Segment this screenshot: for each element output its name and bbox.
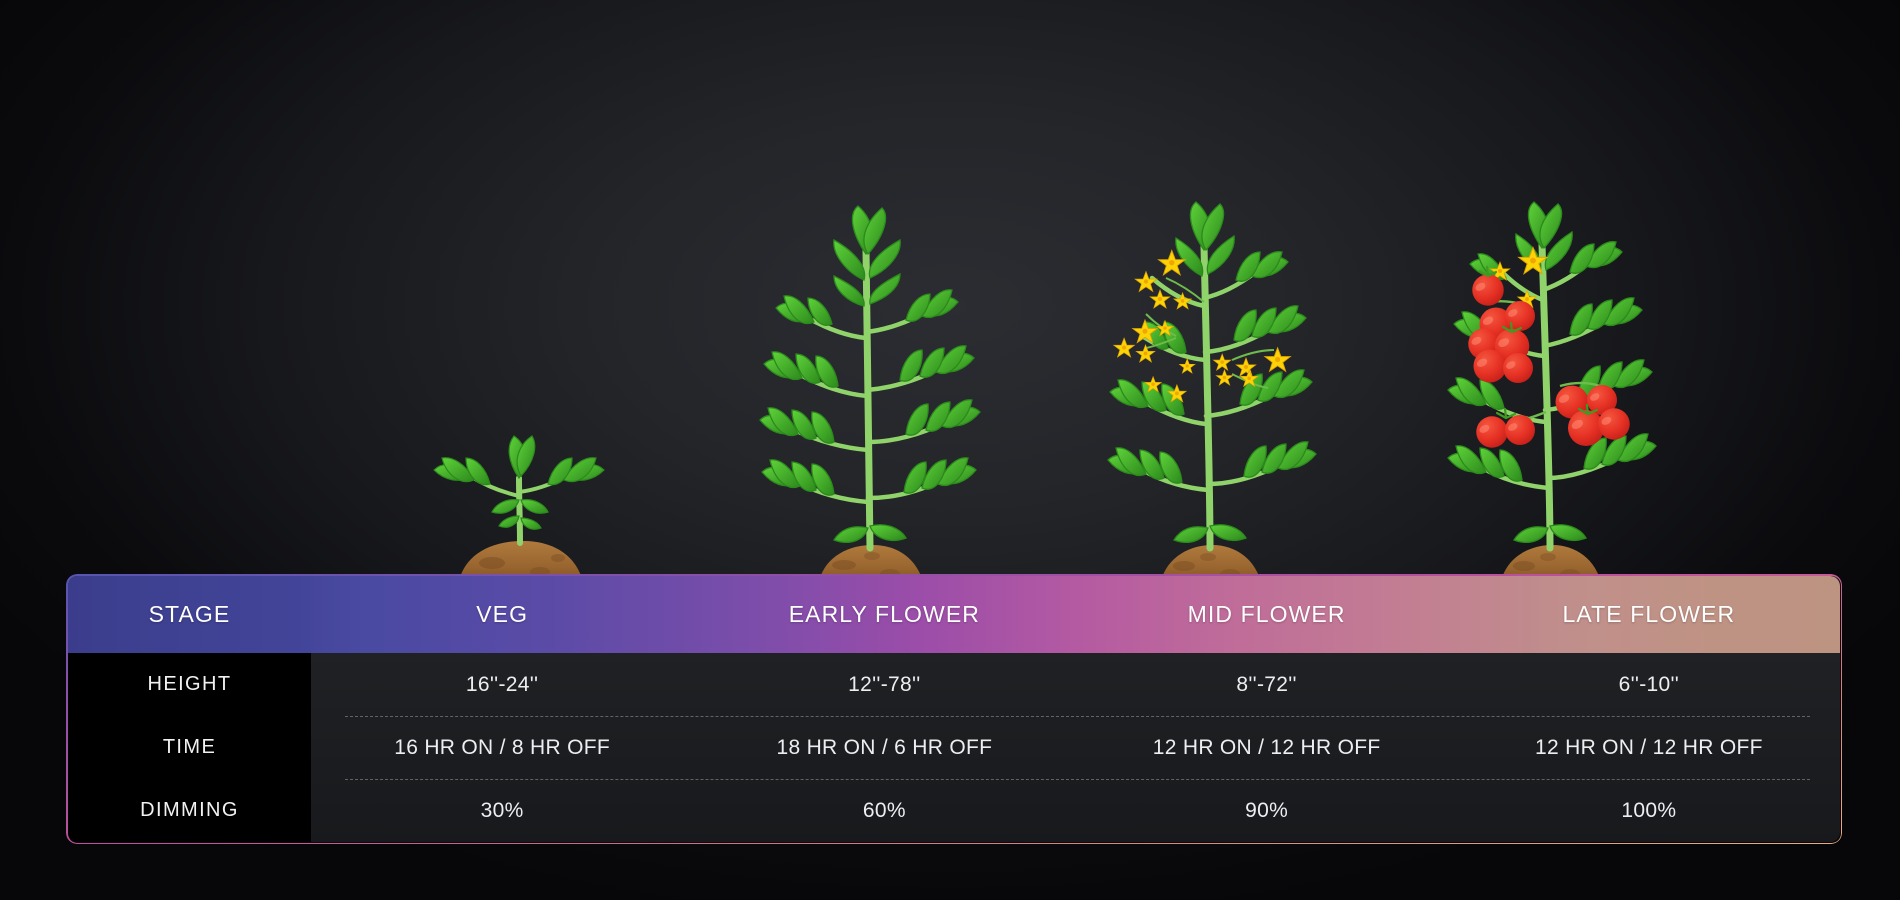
cell-height-early-flower: 12''-78''	[693, 653, 1075, 716]
cell-dimming-early-flower: 60%	[693, 779, 1075, 842]
row-label-time: TIME	[68, 716, 311, 779]
cell-time-late-flower: 12 HR ON / 12 HR OFF	[1458, 716, 1840, 779]
tomato-cluster-upper-left	[1472, 274, 1504, 306]
plant-mid-flower	[1080, 210, 1340, 600]
header-label-veg: VEG	[476, 601, 528, 628]
header-cell-mid-flower[interactable]: MID FLOWER	[1076, 576, 1458, 653]
table-row-dimming: 30% 60% 90% 100%	[311, 779, 1840, 842]
cell-height-late-flower-text: 6''-10''	[1619, 673, 1679, 697]
table-header-row: STAGE VEG EARLY FLOWER MID FLOWER LATE F…	[68, 576, 1840, 653]
plant-illustration-row	[0, 0, 1900, 600]
table-row-height: 16''-24'' 12''-78'' 8''-72'' 6''-10''	[311, 653, 1840, 716]
grow-schedule-table: STAGE VEG EARLY FLOWER MID FLOWER LATE F…	[68, 576, 1840, 842]
header-cell-late-flower[interactable]: LATE FLOWER	[1458, 576, 1840, 653]
row-label-column: HEIGHT TIME DIMMING	[68, 653, 311, 842]
tomato-cluster-lower-left	[1476, 415, 1535, 448]
plant-late-flower	[1420, 210, 1680, 600]
table-body: 16''-24'' 12''-78'' 8''-72'' 6''-10'' 16…	[311, 653, 1840, 842]
table-row-time: 16 HR ON / 8 HR OFF 18 HR ON / 6 HR OFF …	[311, 716, 1840, 779]
header-cell-stage: STAGE	[68, 576, 311, 653]
header-label-mid-flower: MID FLOWER	[1188, 601, 1346, 628]
tomato-cluster-mid-left	[1468, 301, 1535, 383]
tomato-plant-fruiting-icon	[1420, 210, 1680, 600]
row-label-height: HEIGHT	[68, 653, 311, 716]
tomato-seedling-icon	[400, 400, 640, 600]
cell-dimming-late-flower: 100%	[1458, 779, 1840, 842]
grow-stage-chart: STAGE VEG EARLY FLOWER MID FLOWER LATE F…	[0, 0, 1900, 900]
tomato-plant-vegetative-icon	[740, 210, 1000, 600]
cell-height-mid-flower: 8''-72''	[1076, 653, 1458, 716]
row-label-time-text: TIME	[163, 736, 216, 759]
cell-dimming-veg: 30%	[311, 779, 693, 842]
cell-height-late-flower: 6''-10''	[1458, 653, 1840, 716]
cell-time-early-flower: 18 HR ON / 6 HR OFF	[693, 716, 1075, 779]
header-label-stage: STAGE	[149, 601, 231, 628]
tomato-plant-flowering-icon	[1080, 210, 1340, 600]
header-cell-veg[interactable]: VEG	[311, 576, 693, 653]
cell-height-mid-flower-text: 8''-72''	[1236, 673, 1296, 697]
cell-dimming-early-flower-text: 60%	[863, 799, 906, 823]
cell-time-early-flower-text: 18 HR ON / 6 HR OFF	[777, 736, 993, 760]
cell-time-late-flower-text: 12 HR ON / 12 HR OFF	[1535, 736, 1763, 760]
cell-height-veg-text: 16''-24''	[466, 673, 538, 697]
cell-time-mid-flower: 12 HR ON / 12 HR OFF	[1076, 716, 1458, 779]
row-label-dimming-text: DIMMING	[140, 799, 239, 822]
cell-time-veg: 16 HR ON / 8 HR OFF	[311, 716, 693, 779]
row-label-dimming: DIMMING	[68, 779, 311, 842]
tomato-cluster-right	[1556, 385, 1630, 446]
header-cell-early-flower[interactable]: EARLY FLOWER	[693, 576, 1075, 653]
plant-early-flower	[740, 210, 1000, 600]
cell-dimming-veg-text: 30%	[481, 799, 524, 823]
cell-time-mid-flower-text: 12 HR ON / 12 HR OFF	[1153, 736, 1381, 760]
flower-cluster-upper-left	[1135, 251, 1191, 310]
plant-veg	[400, 400, 640, 600]
cell-dimming-late-flower-text: 100%	[1621, 799, 1676, 823]
cell-height-veg: 16''-24''	[311, 653, 693, 716]
cell-dimming-mid-flower: 90%	[1076, 779, 1458, 842]
cell-height-early-flower-text: 12''-78''	[848, 673, 920, 697]
header-label-early-flower: EARLY FLOWER	[789, 601, 980, 628]
row-label-height-text: HEIGHT	[148, 673, 232, 696]
cell-time-veg-text: 16 HR ON / 8 HR OFF	[394, 736, 610, 760]
cell-dimming-mid-flower-text: 90%	[1245, 799, 1288, 823]
header-label-late-flower: LATE FLOWER	[1563, 601, 1736, 628]
